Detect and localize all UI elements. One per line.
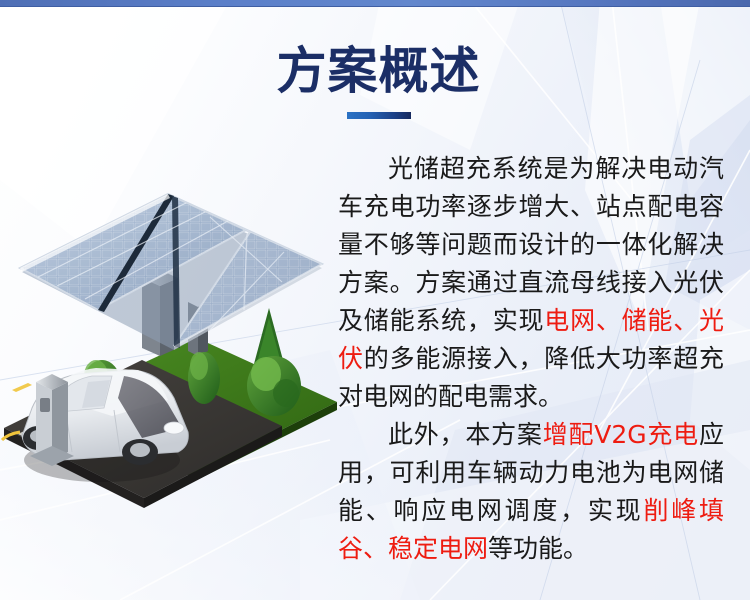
paragraph-2: 此外，本方案增配V2G充电应用，可利用车辆动力电池为电网储能、响应电网调度，实现… bbox=[338, 416, 724, 568]
body-text: 光储超充系统是为解决电动汽车充电功率逐步增大、站点配电容量不够等问题而设计的一体… bbox=[338, 150, 724, 568]
charging-pile bbox=[30, 374, 74, 466]
solar-carport-ev-charging-render bbox=[0, 160, 342, 560]
tree-right-round bbox=[247, 356, 301, 416]
body-text-run: 等功能。 bbox=[488, 534, 588, 563]
page-title: 方案概述 bbox=[276, 42, 481, 100]
top-accent-bar bbox=[0, 0, 750, 7]
paragraph-1: 光储超充系统是为解决电动汽车充电功率逐步增大、站点配电容量不够等问题而设计的一体… bbox=[338, 150, 724, 416]
slide-canvas: 方案概述 光储超充系统是为解决电动汽车充电功率逐步增大、站点配电容量不够等问题而… bbox=[0, 0, 750, 600]
tree-middle bbox=[188, 352, 220, 404]
highlighted-term: 增配V2G充电 bbox=[543, 420, 699, 449]
body-text-run: 此外，本方案 bbox=[388, 420, 543, 449]
title-underline-rule bbox=[347, 112, 411, 119]
body-text-run: 的多能源接入，降低大功率超充对电网的配电需求。 bbox=[338, 344, 724, 411]
title-block: 方案概述 bbox=[276, 42, 481, 119]
solar-panel-array bbox=[20, 194, 322, 350]
